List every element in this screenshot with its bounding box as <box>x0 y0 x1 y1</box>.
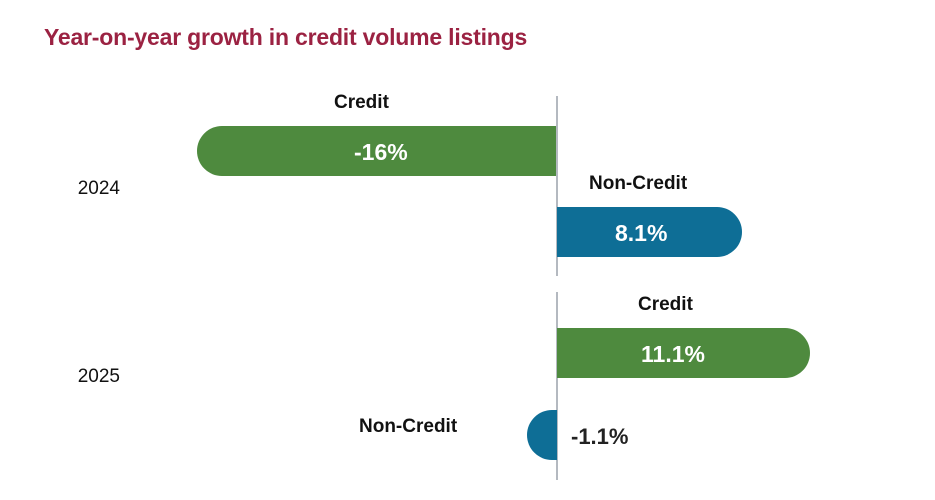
value-label-2025-noncredit: -1.1% <box>571 424 628 450</box>
value-label-2024-credit: -16% <box>354 139 408 166</box>
value-label-2024-noncredit: 8.1% <box>615 220 667 247</box>
chart-container: Year-on-year growth in credit volume lis… <box>0 0 935 500</box>
category-label-2024-noncredit: Non-Credit <box>589 173 687 195</box>
category-label-2025-noncredit: Non-Credit <box>359 416 457 438</box>
plot-area: 2024 Credit -16% Non-Credit 8.1% 2025 Cr… <box>0 0 935 500</box>
group-label-2024: 2024 <box>0 178 120 200</box>
category-label-2025-credit: Credit <box>638 294 693 316</box>
group-label-2025: 2025 <box>0 366 120 388</box>
bar-2025-noncredit[interactable] <box>527 410 557 460</box>
category-label-2024-credit: Credit <box>334 92 389 114</box>
value-label-2025-credit: 11.1% <box>641 341 705 368</box>
